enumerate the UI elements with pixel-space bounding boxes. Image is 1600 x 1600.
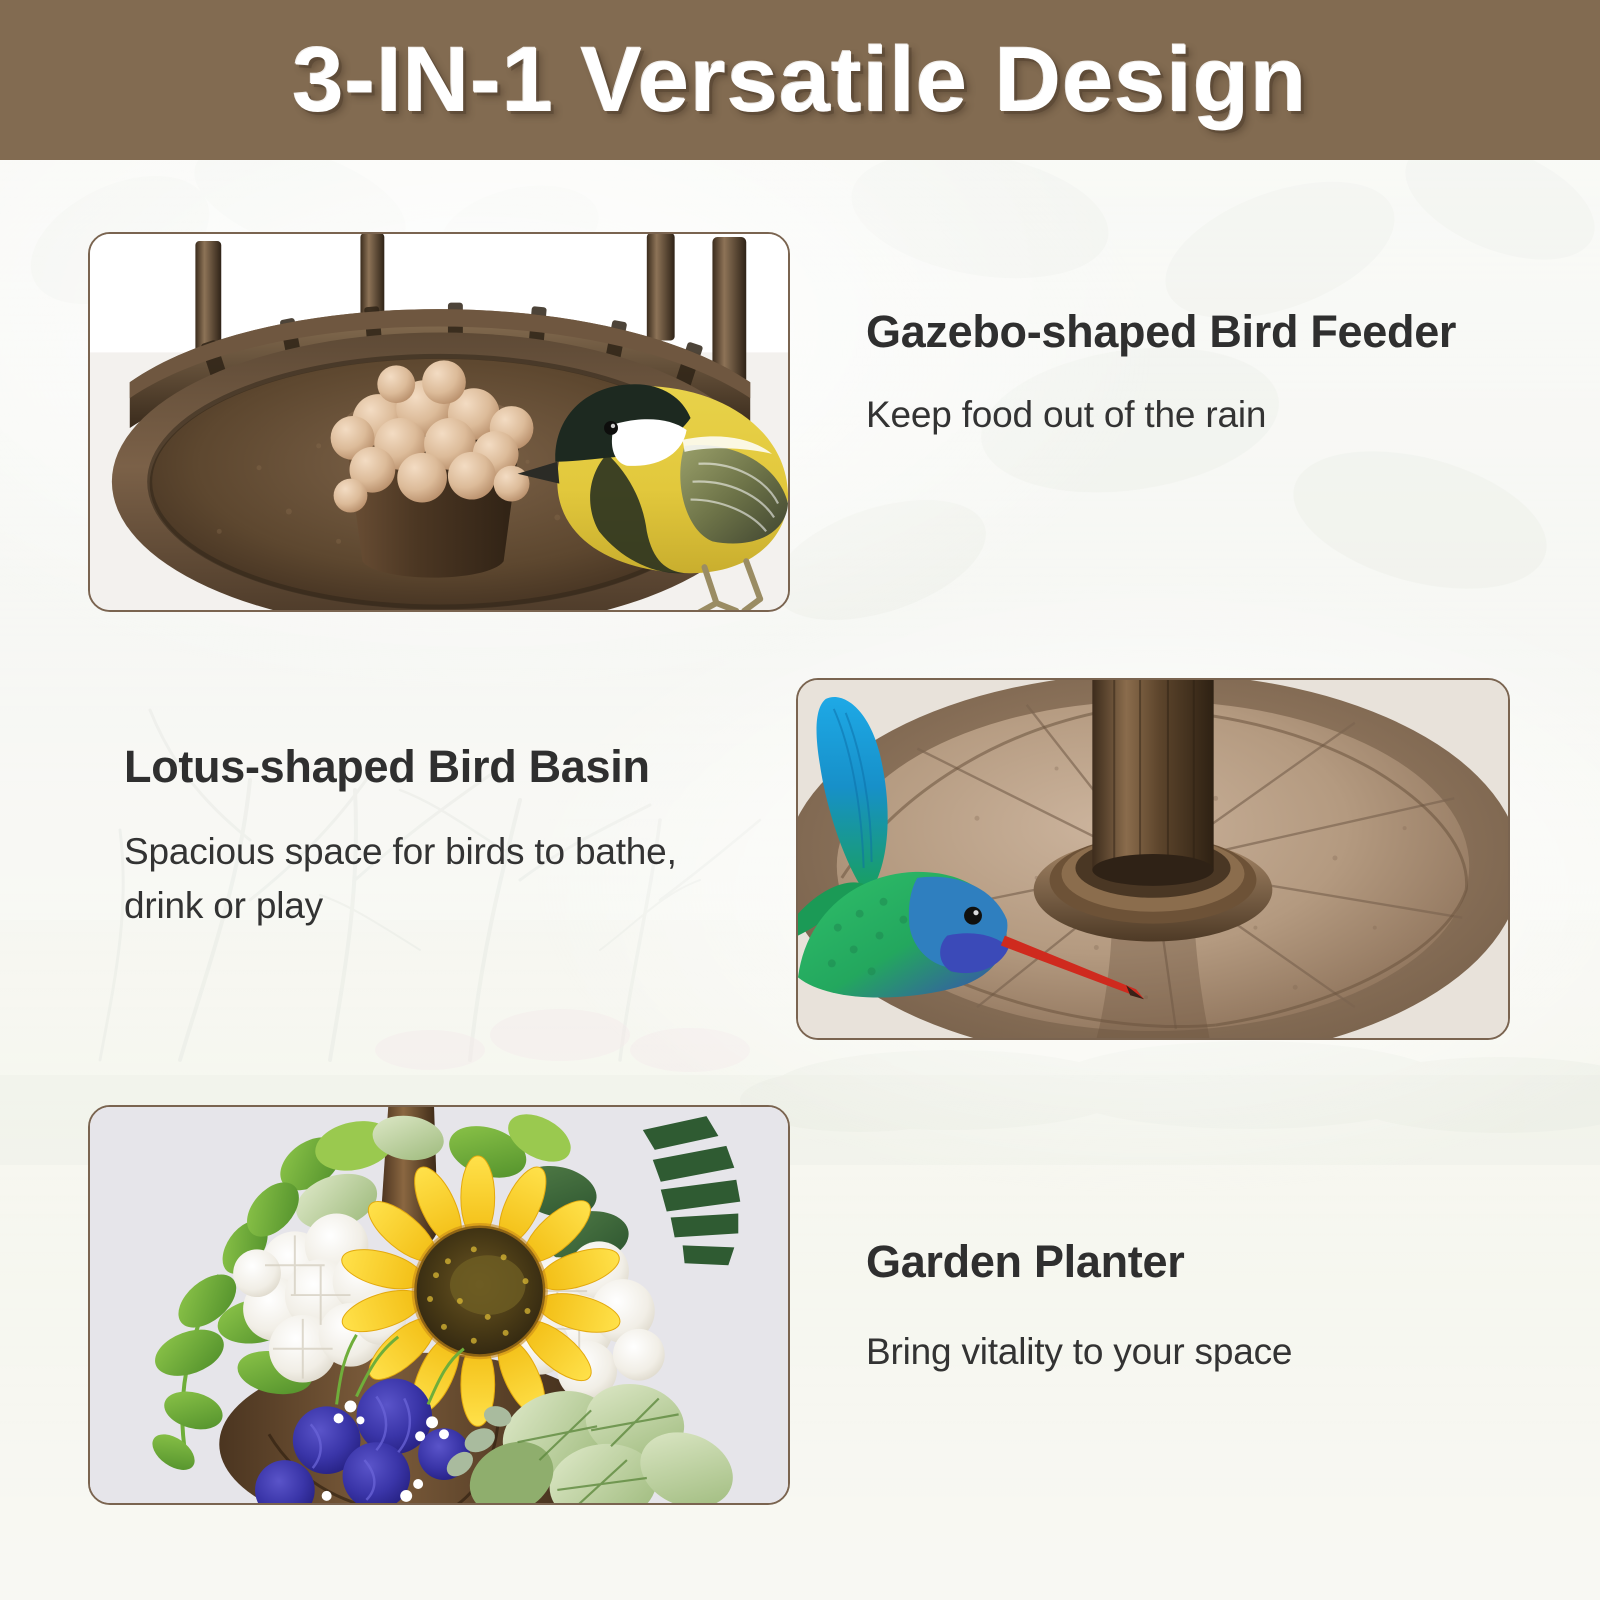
garden-planter-illustration bbox=[90, 1107, 788, 1503]
gazebo-bird-feeder-photo bbox=[88, 232, 790, 612]
feature-text-bird-feeder: Gazebo-shaped Bird Feeder Keep food out … bbox=[866, 300, 1506, 442]
garden-planter-photo bbox=[88, 1105, 790, 1505]
feature-text-bird-basin: Lotus-shaped Bird Basin Spacious space f… bbox=[124, 735, 744, 932]
gazebo-bird-feeder-illustration bbox=[90, 234, 788, 610]
feature-title-bird-feeder: Gazebo-shaped Bird Feeder bbox=[866, 300, 1506, 364]
header-banner: 3-IN-1 Versatile Design bbox=[0, 0, 1600, 160]
lotus-bird-basin-illustration bbox=[798, 680, 1508, 1038]
lotus-bird-basin-photo bbox=[796, 678, 1510, 1040]
feature-subtitle-garden-planter: Bring vitality to your space bbox=[866, 1325, 1506, 1379]
feature-title-bird-basin: Lotus-shaped Bird Basin bbox=[124, 735, 744, 799]
feature-subtitle-bird-basin: Spacious space for birds to bathe, drink… bbox=[124, 825, 744, 932]
feature-subtitle-bird-feeder: Keep food out of the rain bbox=[866, 388, 1506, 442]
feature-text-garden-planter: Garden Planter Bring vitality to your sp… bbox=[866, 1235, 1506, 1379]
page-title: 3-IN-1 Versatile Design bbox=[293, 28, 1308, 133]
feature-title-garden-planter: Garden Planter bbox=[866, 1235, 1506, 1289]
